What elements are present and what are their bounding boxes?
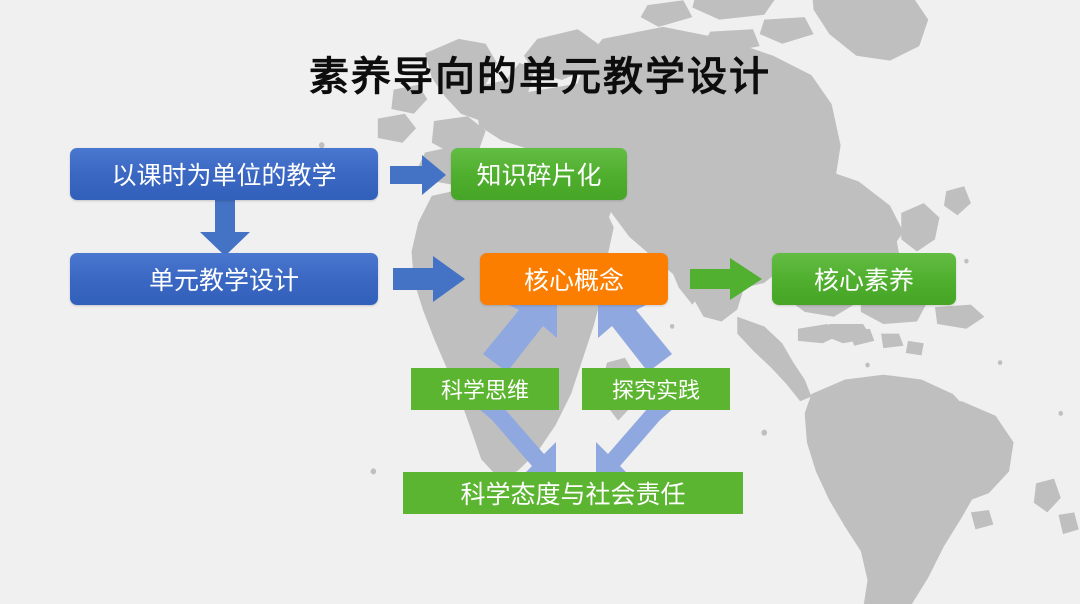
node-label: 知识碎片化 bbox=[476, 156, 601, 192]
slide-canvas: 素养导向的单元教学设计 以课时为单位的教学 知识碎片化 单元教学设计 核心概念 … bbox=[0, 0, 1080, 604]
node-core-concept[interactable]: 核心概念 bbox=[480, 253, 668, 305]
node-label: 科学思维 bbox=[441, 373, 529, 405]
unit-to-concept-arrow bbox=[393, 256, 465, 302]
node-label: 科学态度与社会责任 bbox=[460, 475, 685, 511]
node-knowledge-fragmentation[interactable]: 知识碎片化 bbox=[451, 148, 627, 200]
inquiry-to-concept-arrow bbox=[598, 302, 672, 372]
node-label: 单元教学设计 bbox=[149, 261, 299, 297]
node-label: 以课时为单位的教学 bbox=[111, 156, 336, 192]
node-label: 核心素养 bbox=[814, 261, 914, 297]
node-lesson-based-teaching[interactable]: 以课时为单位的教学 bbox=[70, 148, 378, 200]
thinking-to-concept-arrow bbox=[483, 302, 557, 372]
node-label: 探究实践 bbox=[612, 373, 700, 405]
node-inquiry-practice[interactable]: 探究实践 bbox=[582, 368, 730, 410]
page-title: 素养导向的单元教学设计 bbox=[0, 44, 1080, 102]
inquiry-to-attitude-arrow bbox=[596, 408, 674, 478]
node-core-literacy[interactable]: 核心素养 bbox=[772, 253, 956, 305]
lesson-to-unit-arrow bbox=[200, 200, 250, 256]
lesson-to-fragmentation-arrow bbox=[390, 155, 446, 195]
node-scientific-thinking[interactable]: 科学思维 bbox=[411, 368, 559, 410]
concept-to-literacy-arrow bbox=[690, 258, 762, 300]
node-unit-instructional-design[interactable]: 单元教学设计 bbox=[70, 253, 378, 305]
node-label: 核心概念 bbox=[524, 261, 624, 297]
node-scientific-attitude-social-responsibility[interactable]: 科学态度与社会责任 bbox=[403, 472, 743, 514]
thinking-to-attitude-arrow bbox=[478, 408, 556, 478]
